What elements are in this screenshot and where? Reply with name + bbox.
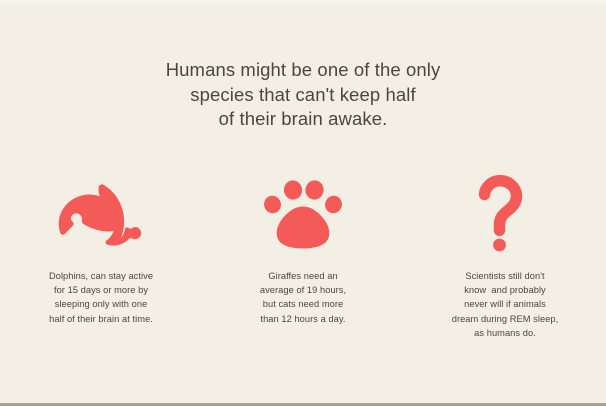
caption-line: sleeping only with one — [21, 297, 181, 311]
caption-line: dream during REM sleep, — [425, 312, 585, 326]
caption-line: Giraffes need an — [223, 269, 383, 283]
caption-line: as humans do. — [425, 326, 585, 340]
caption-line: than 12 hours a day. — [223, 312, 383, 326]
caption-line: for 15 days or more by — [21, 283, 181, 297]
fact-column-dolphins: Dolphins, can stay active for 15 days or… — [0, 175, 202, 326]
caption-dreams: Scientists still don't know and probably… — [425, 269, 585, 340]
page-title: Humans might be one of the only species … — [0, 58, 606, 132]
caption-line: never will if animals — [425, 297, 585, 311]
caption-line: half of their brain at time. — [21, 312, 181, 326]
fact-column-sleep-hours: Giraffes need an average of 19 hours, bu… — [202, 175, 404, 326]
dolphin-icon-slot — [53, 175, 149, 257]
caption-line: Dolphins, can stay active — [21, 269, 181, 283]
question-mark-icon — [476, 175, 534, 257]
fact-column-dreams: Scientists still don't know and probably… — [404, 175, 606, 340]
caption-dolphins: Dolphins, can stay active for 15 days or… — [21, 269, 181, 326]
caption-line: Scientists still don't — [425, 269, 585, 283]
dolphin-icon — [53, 180, 149, 257]
caption-line: know and probably — [425, 283, 585, 297]
headline-line-2: species that can't keep half — [0, 83, 606, 108]
paw-print-icon — [263, 177, 343, 257]
infographic-poster: Humans might be one of the only species … — [0, 0, 606, 406]
question-mark-icon-slot — [476, 175, 534, 257]
caption-line: average of 19 hours, — [223, 283, 383, 297]
headline-line-3: of their brain awake. — [0, 107, 606, 132]
paw-print-icon-slot — [263, 175, 343, 257]
top-edge-highlight — [0, 0, 606, 4]
fact-columns: Dolphins, can stay active for 15 days or… — [0, 175, 606, 340]
caption-sleep-hours: Giraffes need an average of 19 hours, bu… — [223, 269, 383, 326]
headline-line-1: Humans might be one of the only — [0, 58, 606, 83]
caption-line: but cats need more — [223, 297, 383, 311]
